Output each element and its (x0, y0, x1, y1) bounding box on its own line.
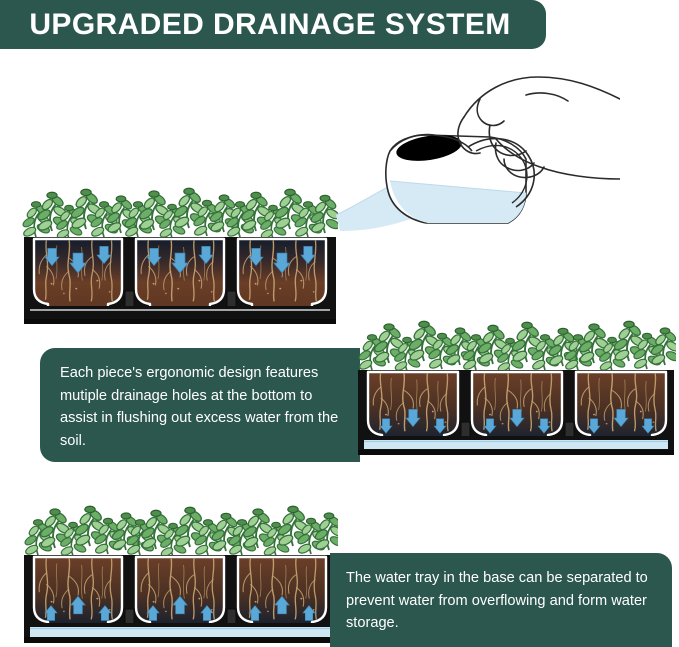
planter-cell (472, 372, 562, 440)
header-banner: UPGRADED DRAINAGE SYSTEM (0, 0, 546, 49)
planter-cell (238, 557, 326, 627)
foliage-group (23, 506, 338, 558)
planter-cell (136, 239, 224, 309)
page-title: UPGRADED DRAINAGE SYSTEM (15, 8, 510, 42)
base-tray-with-water (24, 623, 336, 643)
planter-illustration-bottom (22, 485, 338, 647)
infographic-root: UPGRADED DRAINAGE SYSTEM (0, 0, 679, 647)
watering-can-illustration (330, 55, 620, 245)
planter-cell (34, 239, 122, 309)
planter-cell (34, 557, 122, 627)
planter-cells (34, 557, 326, 627)
planter-illustration-middle (356, 308, 676, 460)
planter-cell (576, 372, 666, 440)
callout-drainage-holes: Each piece's ergonomic design features m… (40, 348, 360, 462)
foliage-group (357, 321, 676, 373)
callout-text: Each piece's ergonomic design features m… (60, 362, 344, 452)
planter-illustration-top (22, 163, 338, 333)
planter-cell (136, 557, 224, 627)
foliage-group (22, 188, 338, 240)
planter-cell (238, 239, 326, 309)
planter-cells (34, 239, 326, 309)
callout-water-tray: The water tray in the base can be separa… (330, 553, 672, 647)
callout-text: The water tray in the base can be separa… (346, 567, 658, 635)
base-tray (24, 306, 336, 324)
planter-cell (368, 372, 458, 440)
planter-cells (368, 372, 666, 440)
base-tray-with-water (358, 436, 674, 455)
watering-can-body (386, 131, 534, 223)
